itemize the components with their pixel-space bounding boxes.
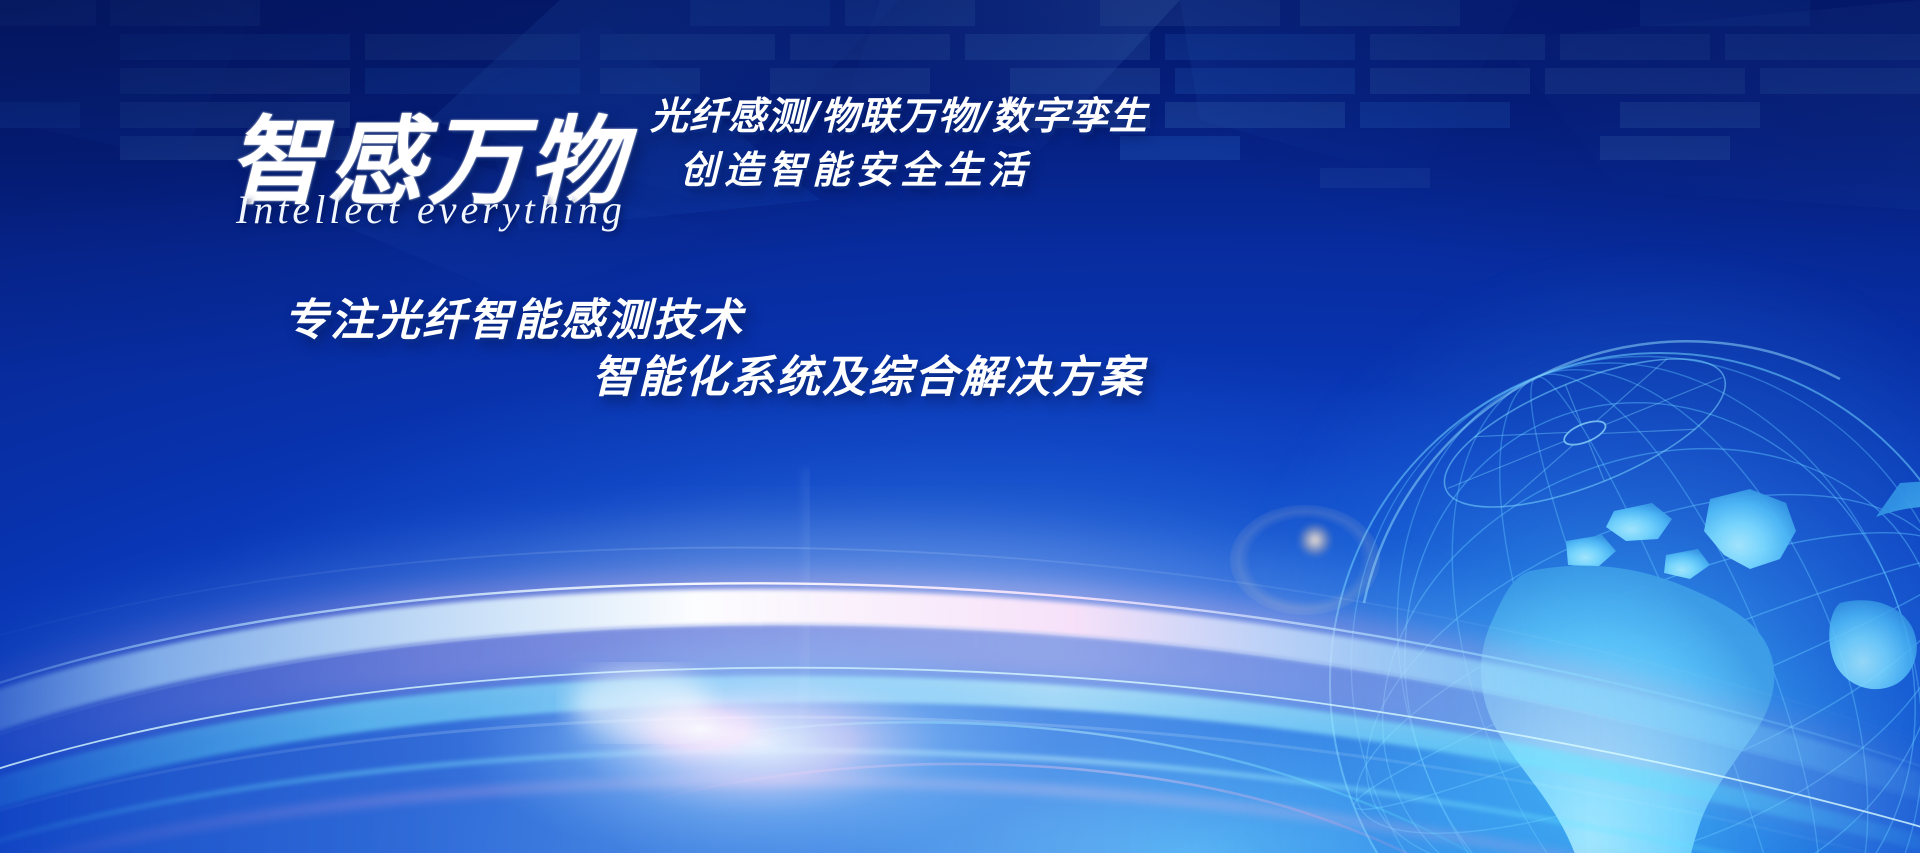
streak-svg [0,373,1920,853]
promotional-banner: 智感万物 Intellect everything 光纤感测/物联万物/数字孪生… [0,0,1920,853]
page-subtitle-english: Intellect everything [236,186,626,233]
lens-flare-ring-icon [1230,505,1380,615]
slogan-line-2: 创造智能安全生活 [680,139,1032,194]
slogan-line-1: 光纤感测/物联万物/数字孪生 [650,85,1148,140]
light-ribbon-swoosh [0,373,1920,853]
tagline-line-2: 智能化系统及综合解决方案 [592,341,1144,405]
tagline-line-1: 专注光纤智能感测技术 [284,284,744,348]
